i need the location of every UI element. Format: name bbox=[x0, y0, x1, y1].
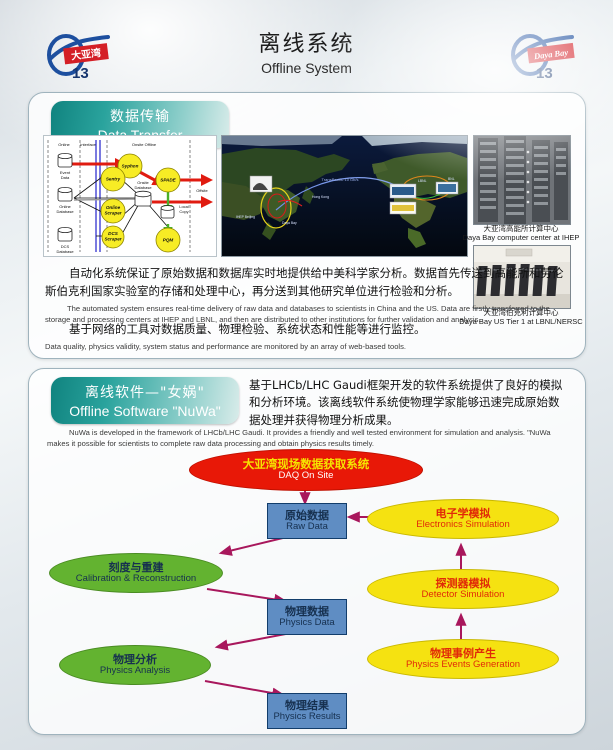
svg-text:SPADE: SPADE bbox=[160, 178, 176, 183]
flow-node-calibration-en: Calibration & Reconstruction bbox=[76, 574, 196, 585]
svg-text:Database: Database bbox=[134, 185, 152, 190]
ihep-computer-center-photo bbox=[473, 135, 571, 225]
flow-node-detector-simulation-cn: 探测器模拟 bbox=[436, 578, 491, 590]
data-transfer-panel: 数据传输 Data Transfer bbox=[28, 92, 586, 359]
dt-para1-cn: 自动化系统保证了原始数据和数据库实时地提供给中美科学家分析。数据首先传送到高能所… bbox=[45, 265, 569, 301]
poster-header: 大亚湾 13 离线系统 Offline System Daya Bay 13 bbox=[0, 0, 613, 92]
nuwa-dataflow-chart: 大亚湾现场数据获取系统 DAQ On Site 原始数据 Raw Data 刻度… bbox=[29, 449, 585, 732]
nuwa-intro-en: NuWa is developed in the framework of LH… bbox=[47, 427, 567, 450]
flow-node-physics-data-cn: 物理数据 bbox=[285, 606, 329, 618]
data-transfer-paragraph-1: 自动化系统保证了原始数据和数据库实时地提供给中美科学家分析。数据首先传送到高能所… bbox=[45, 265, 569, 325]
dt-para2-en: Data quality, physics validity, system s… bbox=[45, 341, 569, 352]
nuwa-tab: 离线软件—"女娲" Offline Software "NuWa" bbox=[51, 377, 239, 424]
logo-number-right: 13 bbox=[536, 65, 553, 81]
data-transfer-tab-cn: 数据传输 bbox=[51, 106, 229, 126]
flow-node-physics-data-en: Physics Data bbox=[279, 618, 334, 629]
nuwa-tab-cn: 离线软件—"女娲" bbox=[51, 382, 239, 402]
svg-text:Daya Bay: Daya Bay bbox=[282, 221, 297, 225]
flow-node-physics-data: 物理数据 Physics Data bbox=[267, 599, 347, 635]
svg-text:Hong Kong: Hong Kong bbox=[312, 195, 329, 199]
svg-text:Online: Online bbox=[58, 142, 70, 147]
flow-node-electronics-simulation: 电子学模拟 Electronics Simulation bbox=[367, 499, 559, 539]
flow-node-physics-analysis-en: Physics Analysis bbox=[100, 666, 170, 677]
flow-node-electronics-simulation-en: Electronics Simulation bbox=[416, 520, 509, 531]
dt-para2-cn: 基于网络的工具对数据质量、物理检验、系统状态和性能等进行监控。 bbox=[45, 321, 569, 339]
svg-text:Copy: Copy bbox=[179, 209, 188, 214]
svg-text:Database: Database bbox=[56, 209, 74, 214]
svg-text:Database: Database bbox=[56, 249, 74, 254]
flow-node-physics-results-cn: 物理结果 bbox=[285, 700, 329, 712]
svg-text:Offsite: Offsite bbox=[196, 188, 208, 193]
svg-text:TransPacific 10 Gb/s: TransPacific 10 Gb/s bbox=[322, 177, 359, 182]
svg-text:Data: Data bbox=[61, 175, 70, 180]
flow-node-electronics-simulation-cn: 电子学模拟 bbox=[436, 508, 491, 520]
flow-node-calibration-cn: 刻度与重建 bbox=[109, 562, 164, 574]
network-world-map: TransPacific 10 Gb/s bbox=[221, 135, 468, 257]
data-transfer-diagram: Syphon Sentry OnlineScraper DCSScraper S… bbox=[43, 135, 217, 257]
daya-bay-logo-en: Daya Bay 13 bbox=[502, 33, 584, 81]
flow-node-raw-data: 原始数据 Raw Data bbox=[267, 503, 347, 539]
flow-node-physics-events-generation: 物理事例产生 Physics Events Generation bbox=[367, 639, 559, 679]
flow-node-daq-en: DAQ On Site bbox=[279, 471, 334, 482]
ihep-photo-caption: 大亚湾高能所计算中心 Daya Bay computer center at I… bbox=[451, 225, 591, 242]
flow-node-physics-analysis-cn: 物理分析 bbox=[113, 654, 157, 666]
svg-text:Onsite Offline: Onsite Offline bbox=[132, 142, 157, 147]
flow-node-detector-simulation-en: Detector Simulation bbox=[422, 590, 505, 601]
flow-node-physics-events-generation-cn: 物理事例产生 bbox=[430, 648, 496, 660]
poster-root: 大亚湾 13 离线系统 Offline System Daya Bay 13 bbox=[0, 0, 613, 750]
svg-text:Sentry: Sentry bbox=[106, 177, 121, 182]
data-transfer-paragraph-2: 基于网络的工具对数据质量、物理检验、系统状态和性能等进行监控。 Data qua… bbox=[45, 321, 569, 352]
svg-text:Interface: Interface bbox=[80, 142, 96, 147]
flow-node-raw-data-cn: 原始数据 bbox=[285, 510, 329, 522]
flow-node-calibration: 刻度与重建 Calibration & Reconstruction bbox=[49, 553, 223, 593]
flow-node-daq: 大亚湾现场数据获取系统 DAQ On Site bbox=[189, 449, 423, 491]
svg-text:Syphon: Syphon bbox=[122, 164, 139, 169]
flow-node-physics-results-en: Physics Results bbox=[273, 712, 340, 723]
flow-node-physics-results: 物理结果 Physics Results bbox=[267, 693, 347, 729]
nuwa-tab-en: Offline Software "NuWa" bbox=[51, 403, 239, 419]
svg-text:DCS: DCS bbox=[108, 231, 119, 236]
svg-text:Online: Online bbox=[106, 205, 121, 210]
svg-text:Scraper: Scraper bbox=[104, 211, 121, 216]
svg-text:Scraper: Scraper bbox=[104, 237, 121, 242]
flow-node-detector-simulation: 探测器模拟 Detector Simulation bbox=[367, 569, 559, 609]
svg-text:LBNL: LBNL bbox=[418, 179, 427, 183]
ihep-caption-en: Daya Bay computer center at IHEP bbox=[451, 234, 591, 243]
svg-text:BNL: BNL bbox=[448, 177, 455, 181]
flow-node-physics-analysis: 物理分析 Physics Analysis bbox=[59, 645, 211, 685]
nuwa-intro-cn: 基于LHCb/LHC Gaudi框架开发的软件系统提供了良好的模拟和分析环境。该… bbox=[249, 377, 565, 429]
svg-text:IHEP Beijing: IHEP Beijing bbox=[236, 215, 255, 219]
flow-node-physics-events-generation-en: Physics Events Generation bbox=[406, 660, 520, 671]
flow-node-raw-data-en: Raw Data bbox=[286, 522, 328, 533]
svg-text:PQM: PQM bbox=[163, 238, 174, 243]
offline-software-panel: 离线软件—"女娲" Offline Software "NuWa" 基于LHCb… bbox=[28, 368, 586, 735]
